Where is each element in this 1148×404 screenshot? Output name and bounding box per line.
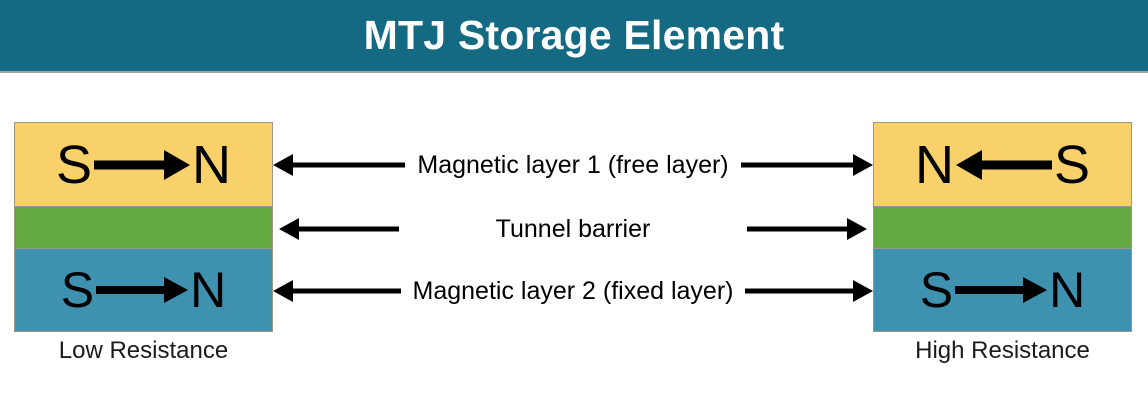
right-arrow-icon <box>94 156 190 174</box>
right-arrow-icon <box>955 282 1047 298</box>
mtj-stack-right: N S S N <box>873 122 1132 332</box>
left-fixed-layer-pole-right: N <box>190 265 226 315</box>
label-row-fixed-layer: Magnetic layer 2 (fixed layer) <box>273 271 873 311</box>
left-arrow-icon <box>273 284 401 298</box>
label-row-free-layer: Magnetic layer 1 (free layer) <box>273 145 873 185</box>
tunnel-barrier-label: Tunnel barrier <box>484 215 663 244</box>
left-fixed-layer-pole-left: S <box>61 265 94 315</box>
right-free-layer-magnetization: N S <box>874 123 1131 206</box>
left-fixed-layer: S N <box>14 248 273 332</box>
left-arrow-icon <box>279 222 399 236</box>
right-fixed-layer-pole-left: S <box>920 265 953 315</box>
mtj-stack-left: S N S N <box>14 122 273 332</box>
right-free-layer-pole-right: S <box>1054 138 1090 192</box>
left-stack-caption: Low Resistance <box>14 337 273 365</box>
left-free-layer-pole-right: N <box>192 138 231 192</box>
left-arrow-icon <box>956 156 1052 174</box>
right-arrow-icon <box>741 158 873 172</box>
left-free-layer: S N <box>14 122 273 207</box>
right-arrow-icon <box>745 284 873 298</box>
right-fixed-layer-magnetization: S N <box>874 249 1131 331</box>
left-free-layer-magnetization: S N <box>15 123 272 206</box>
left-free-layer-pole-left: S <box>56 138 92 192</box>
left-tunnel-barrier-layer <box>14 206 273 249</box>
header-band: MTJ Storage Element <box>0 0 1148 73</box>
free-layer-label: Magnetic layer 1 (free layer) <box>405 151 740 180</box>
right-stack-caption: High Resistance <box>873 337 1132 365</box>
right-tunnel-barrier-layer <box>873 206 1132 249</box>
right-free-layer: N S <box>873 122 1132 207</box>
left-fixed-layer-magnetization: S N <box>15 249 272 331</box>
page-title: MTJ Storage Element <box>0 0 1148 73</box>
right-fixed-layer: S N <box>873 248 1132 332</box>
fixed-layer-label: Magnetic layer 2 (fixed layer) <box>401 277 746 306</box>
right-free-layer-pole-left: N <box>915 138 954 192</box>
left-arrow-icon <box>273 158 405 172</box>
mtj-diagram: S N S N Low Resistance N <box>0 73 1148 404</box>
right-fixed-layer-pole-right: N <box>1049 265 1085 315</box>
right-arrow-icon <box>747 222 867 236</box>
right-arrow-icon <box>96 282 188 298</box>
label-row-tunnel-barrier: Tunnel barrier <box>273 209 873 249</box>
